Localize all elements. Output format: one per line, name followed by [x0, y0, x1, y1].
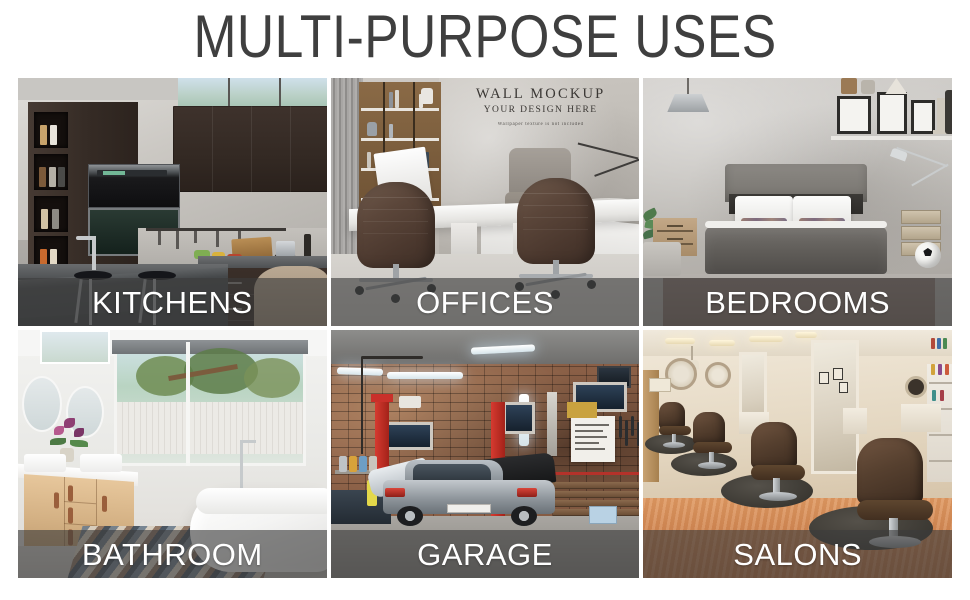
caption-bar-offices: OFFICES [331, 278, 640, 326]
grid-cell-kitchens[interactable]: KITCHENS [18, 78, 327, 326]
caption-label-garage: GARAGE [417, 539, 553, 570]
caption-label-offices: OFFICES [416, 287, 554, 318]
uses-grid: KITCHENS [18, 78, 952, 578]
grid-cell-offices[interactable]: WALL MOCKUP YOUR DESIGN HERE Wallpaper t… [331, 78, 640, 326]
caption-label-bathroom: BATHROOM [82, 539, 263, 570]
caption-bar-garage: GARAGE [331, 530, 640, 578]
wall-mockup-line1: WALL MOCKUP [443, 86, 639, 103]
grid-cell-bedrooms[interactable]: BEDROOMS [643, 78, 952, 326]
caption-bar-kitchens: KITCHENS [18, 278, 327, 326]
caption-label-salons: SALONS [733, 539, 862, 570]
caption-bar-bathroom: BATHROOM [18, 530, 327, 578]
caption-label-bedrooms: BEDROOMS [705, 287, 890, 318]
page-title: MULTI-PURPOSE USES [68, 2, 902, 72]
caption-bar-bedrooms: BEDROOMS [643, 278, 952, 326]
wall-mockup-line3: Wallpaper texture is not included [443, 122, 639, 127]
wall-mockup-line2: YOUR DESIGN HERE [443, 105, 639, 115]
office-wall-mockup-text: WALL MOCKUP YOUR DESIGN HERE Wallpaper t… [443, 86, 639, 127]
grid-cell-garage[interactable]: GARAGE [331, 330, 640, 578]
grid-cell-salons[interactable]: SALONS [643, 330, 952, 578]
page-root: MULTI-PURPOSE USES [0, 0, 970, 600]
caption-bar-salons: SALONS [643, 530, 952, 578]
grid-cell-bathroom[interactable]: BATHROOM [18, 330, 327, 578]
caption-label-kitchens: KITCHENS [92, 287, 253, 318]
